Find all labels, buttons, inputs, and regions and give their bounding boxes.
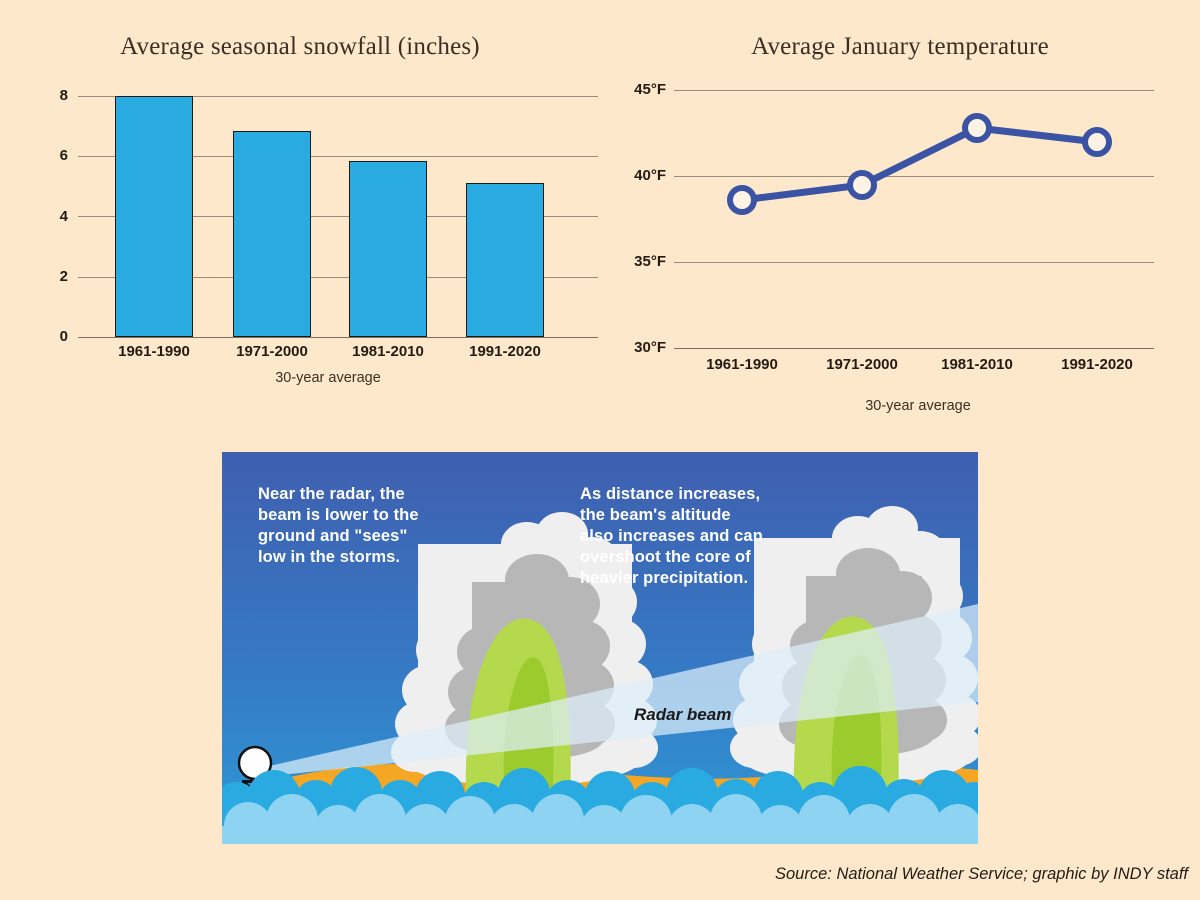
snowfall-bar-chart: Average seasonal snowfall (inches) 8 6 4… (0, 0, 600, 430)
temperature-line (742, 128, 1097, 200)
line-marker-1981-2010 (965, 116, 989, 140)
line-xtick-3: 1991-2020 (1037, 356, 1157, 373)
callout-as-distance-increases: As distance increases, the beam's altitu… (580, 484, 763, 590)
bar-1971-2000[interactable] (233, 131, 311, 337)
bar-1991-2020[interactable] (466, 183, 544, 337)
bar-ytick-0: 0 (34, 328, 68, 345)
bar-ytick-2: 2 (34, 268, 68, 285)
line-marker-1991-2020 (1085, 130, 1109, 154)
bar-ytick-6: 6 (34, 147, 68, 164)
line-marker-1971-2000 (850, 173, 874, 197)
bar-xtick-2: 1981-2010 (328, 343, 448, 360)
line-xtick-1: 1971-2000 (802, 356, 922, 373)
line-xtick-0: 1961-1990 (682, 356, 802, 373)
callout-near-radar: Near the radar, the beam is lower to the… (258, 484, 419, 568)
bar-xtick-3: 1991-2020 (445, 343, 565, 360)
bar-ytick-4: 4 (34, 208, 68, 225)
source-credit: Source: National Weather Service; graphi… (775, 865, 1188, 884)
bar-xtick-0: 1961-1990 (94, 343, 214, 360)
bar-chart-title: Average seasonal snowfall (inches) (0, 33, 600, 61)
infographic-root: Average seasonal snowfall (inches) 8 6 4… (0, 0, 1200, 900)
bar-ytick-8: 8 (34, 87, 68, 104)
january-temperature-line-chart: Average January temperature 45°F 40°F 35… (600, 0, 1200, 430)
radar-beam-illustration: Near the radar, the beam is lower to the… (222, 452, 978, 844)
bar-xaxis-caption: 30-year average (178, 370, 478, 386)
radar-beam-label: Radar beam (634, 705, 731, 725)
line-xtick-2: 1981-2010 (917, 356, 1037, 373)
bar-axis-baseline (78, 337, 598, 338)
bar-1961-1990[interactable] (115, 96, 193, 337)
foreground-cloud-band (222, 766, 978, 844)
bar-1981-2010[interactable] (349, 161, 427, 337)
line-xaxis-caption: 30-year average (768, 398, 1068, 414)
line-marker-1961-1990 (730, 188, 754, 212)
bar-xtick-1: 1971-2000 (212, 343, 332, 360)
